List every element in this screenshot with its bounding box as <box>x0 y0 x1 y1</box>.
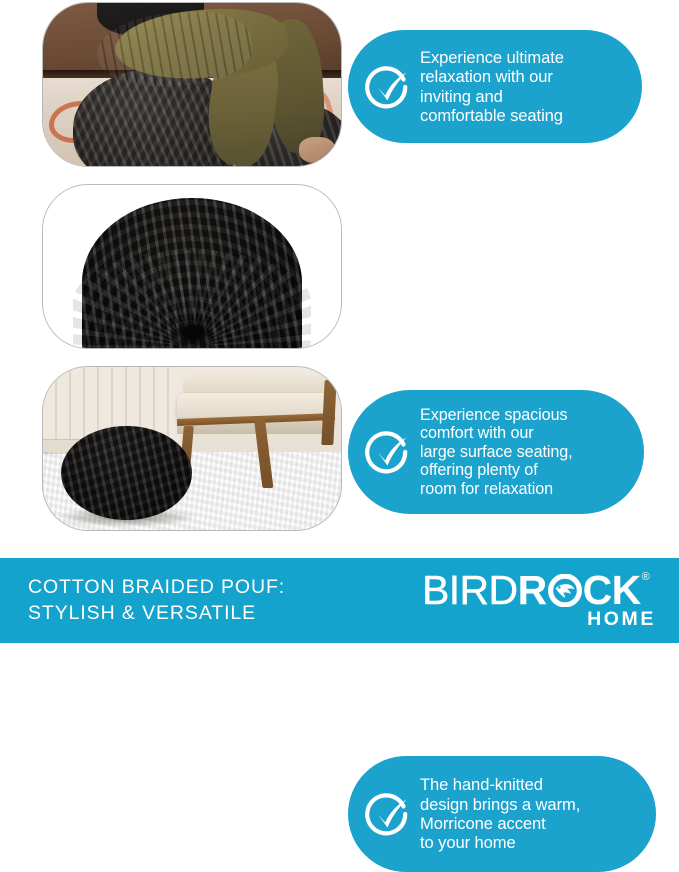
feature-row: The hand-knitted design brings a warm, M… <box>0 364 679 534</box>
feature-callout-text: Experience ultimate relaxation with our … <box>420 48 564 125</box>
brand-ck-text: CK <box>583 570 641 611</box>
product-infographic: Experience ultimate relaxation with our … <box>0 0 679 643</box>
brand-home-text: HOME <box>587 610 656 630</box>
photo1-person-foot <box>299 137 335 163</box>
feature-callout-text: The hand-knitted design brings a warm, M… <box>420 775 580 852</box>
feature-row: Experience spacious comfort with our lar… <box>0 182 679 352</box>
photo2-pouf-center <box>183 325 204 340</box>
brand-logo: BIRD R CK ® HOME <box>422 570 662 632</box>
feature-callout: The hand-knitted design brings a warm, M… <box>348 756 656 872</box>
brand-bird-text: BIRD <box>422 570 518 611</box>
photo-stage <box>43 367 341 530</box>
registered-trademark-symbol: ® <box>642 572 650 583</box>
photo-stage <box>43 185 341 348</box>
product-tagline: COTTON BRAIDED POUF: STYLISH & VERSATILE <box>28 575 285 626</box>
pouf-product-photo <box>42 184 342 349</box>
brand-wordmark: BIRD R CK ® <box>422 570 649 611</box>
feature-row: Experience ultimate relaxation with our … <box>0 0 679 170</box>
photo-stage <box>43 3 341 166</box>
footer-banner: COTTON BRAIDED POUF: STYLISH & VERSATILE… <box>0 558 679 643</box>
feature-callout: Experience ultimate relaxation with our … <box>348 30 642 143</box>
photo3-pouf <box>61 426 192 521</box>
brand-r-text: R <box>518 570 547 611</box>
pouf-in-use-photo <box>42 2 342 167</box>
pouf-living-room-photo <box>42 366 342 531</box>
photo3-pouf-texture <box>61 426 192 521</box>
bird-in-circle-icon <box>548 574 582 607</box>
check-circle-icon <box>362 62 412 112</box>
check-circle-icon <box>362 789 412 839</box>
